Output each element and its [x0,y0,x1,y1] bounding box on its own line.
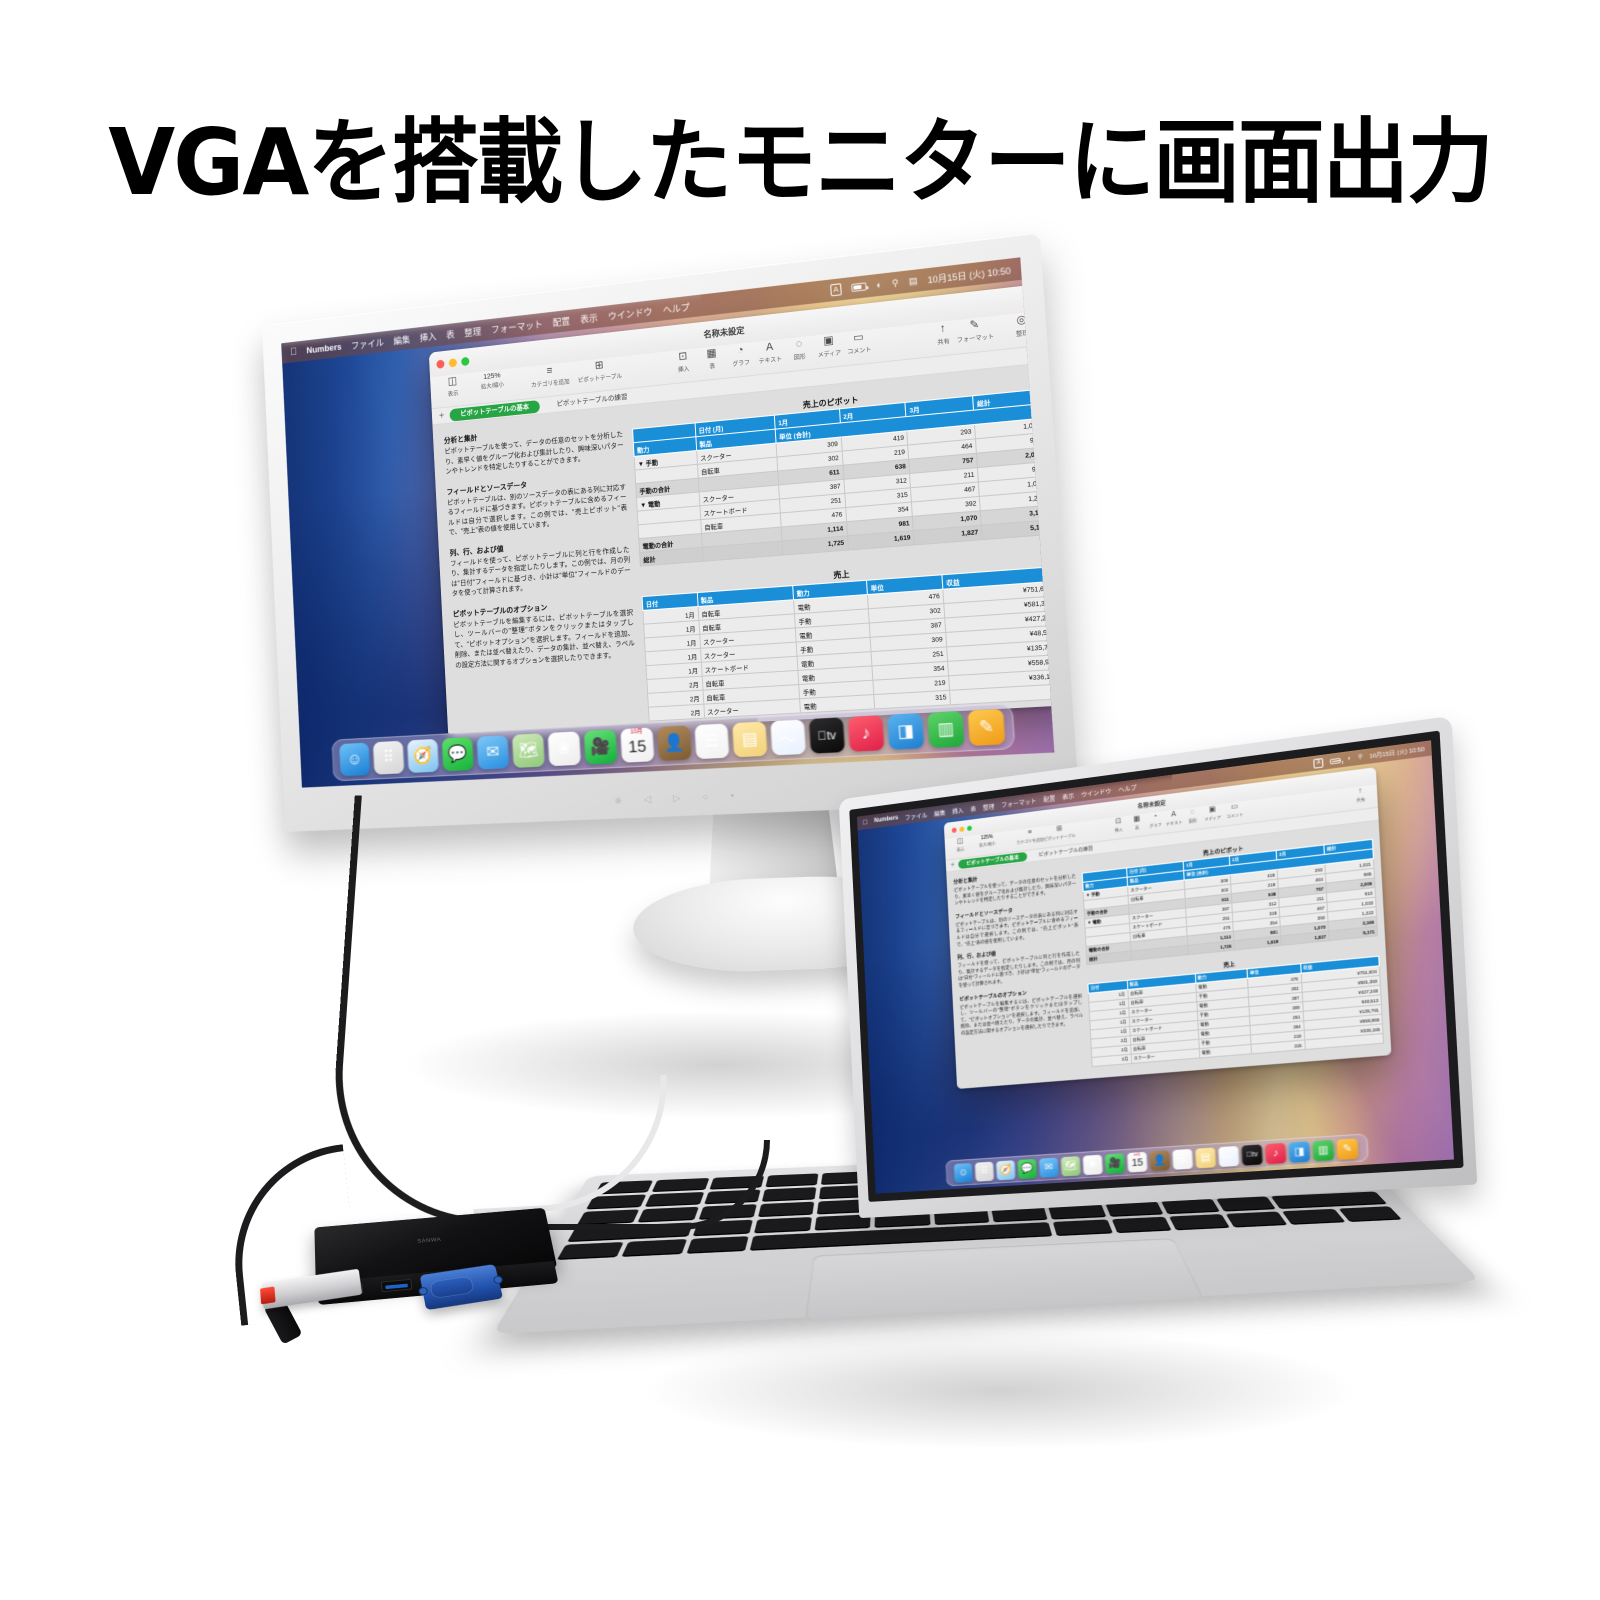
toolbar-media[interactable]: ▣ メディア [813,333,844,359]
laptop-share-icon: ↑ [1358,787,1362,796]
mail-icon[interactable]: ✉ [1039,1157,1059,1177]
menu-item-arrange[interactable]: 配置 [552,314,570,329]
toolbar-add-category[interactable]: ≡ カテゴリを追加 [532,363,567,389]
laptop-toolbar-zoom[interactable]: 125% 拡大/縮小 [977,833,997,848]
menu-item-insert[interactable]: 挿入 [419,329,436,344]
notes-icon[interactable]: ▤ [732,721,767,757]
shape-icon: ◌ [795,338,802,352]
toolbar-comment[interactable]: ▭ コメント [843,330,875,356]
share-icon: ↑ [939,322,946,336]
laptop-shadow [640,1330,1360,1450]
chart-icon: ◔ [737,344,744,358]
laptop-table-icon: ▦ [1133,815,1140,824]
music-icon[interactable]: ♪ [848,715,885,752]
safari-icon[interactable]: 🧭 [407,739,439,773]
keynote-icon[interactable]: ◨ [1289,1141,1311,1162]
laptop-chart-icon: ◔ [1153,813,1158,822]
traffic-lights[interactable] [436,356,469,368]
page-headline: VGAを搭載したモニターに画面出力 [48,88,1552,221]
laptop-menu-item-format[interactable]: フォーマット [1001,795,1037,809]
osd-menu-icon[interactable]: ○ [702,792,708,803]
laptop-toolbar-insert[interactable]: ⊡ 挿入 [1109,817,1128,835]
pivot-table-icon: ⊞ [595,359,604,372]
trackpad[interactable] [805,1238,1204,1320]
laptop-insert-icon: ⊡ [1115,818,1121,827]
laptop-screen:  Numbers ファイル 編集 挿入 表 整理 フォーマット 配置 表示 ウ… [849,731,1463,1202]
laptop-view-icon: ◫ [957,838,964,847]
osd-right-icon[interactable]: ▷ [673,793,681,804]
laptop-menu-item-table[interactable]: 表 [970,803,976,813]
external-monitor:  Numbers ファイル 編集 挿入 表 整理 フォーマット 配置 表示 ウ… [262,232,1079,832]
monitor-screen:  Numbers ファイル 編集 挿入 表 整理 フォーマット 配置 表示 ウ… [281,257,1054,787]
menu-item-window[interactable]: ウインドウ [608,304,653,323]
monitor-bezel:  Numbers ファイル 編集 挿入 表 整理 フォーマット 配置 表示 ウ… [262,232,1079,832]
laptop-toolbar-view[interactable]: ◫ 表示 [950,837,970,854]
minimize-icon[interactable] [449,358,457,367]
laptop-menu-item-insert[interactable]: 挿入 [952,805,964,815]
menubar-datetime[interactable]: 10月15日 (火) 10:50 [927,263,1011,286]
appletv-icon[interactable]: tv [1241,1144,1262,1165]
laptop-zoom-icon[interactable] [967,825,972,831]
photos-icon[interactable]: ❀ [548,731,581,766]
laptop-macos-desktop:  Numbers ファイル 編集 挿入 表 整理 フォーマット 配置 表示 ウ… [857,740,1454,1193]
menu-item-format[interactable]: フォーマット [491,317,543,336]
photos-icon[interactable]: ❀ [1083,1154,1103,1175]
toolbar-text[interactable]: A テキスト [755,340,786,366]
menu-item-help[interactable]: ヘルプ [662,300,690,317]
control-center-icon[interactable]: ▤ [908,275,917,287]
menu-app-name[interactable]: Numbers [306,342,342,356]
sales-cell[interactable]: 2月 [1092,1054,1131,1066]
laptop-category-icon: ≡ [1028,829,1032,838]
toolbar-zoom[interactable]: 125% 拡大/縮小 [478,370,506,391]
notes-icon[interactable]: ▤ [1195,1147,1216,1168]
calendar-icon[interactable]: 10月15 [620,727,654,762]
laptop-toolbar-table[interactable]: ▦ 表 [1127,815,1146,833]
appletv-icon[interactable]: tv [809,717,845,753]
maps-icon[interactable]: 🗺 [1061,1156,1081,1177]
laptop-menu-item-window[interactable]: ウインドウ [1081,786,1112,799]
section-body-options: ピボットテーブルを編集するには、ピボットテーブルを選択し、ツールバーの"整理"ボ… [453,608,636,671]
mail-icon[interactable]: ✉ [477,735,510,770]
organize-icon: ◎ [1016,313,1027,327]
comment-icon: ▭ [853,331,864,345]
macos-desktop:  Numbers ファイル 編集 挿入 表 整理 フォーマット 配置 表示 ウ… [281,257,1054,787]
osd-power-icon[interactable]: ⎈ [614,796,622,807]
numbers-icon[interactable]: ▥ [927,711,964,748]
menu-item-organize[interactable]: 整理 [464,324,482,339]
toolbar-chart[interactable]: ◔ グラフ [726,343,756,369]
product-marketing-image: VGAを搭載したモニターに画面出力  Numbers ファイル 編集 挿入 [0,0,1600,1600]
zoom-icon[interactable] [461,356,469,365]
menu-item-table[interactable]: 表 [446,327,455,341]
menu-item-file[interactable]: ファイル [351,335,384,352]
toolbar-insert[interactable]: ⊡ 挿入 [668,349,698,375]
freeform-icon[interactable]: 〜 [1218,1145,1239,1166]
freeform-icon[interactable]: 〜 [770,719,806,755]
laptop-lid:  Numbers ファイル 編集 挿入 表 整理 フォーマット 配置 表示 ウ… [839,716,1478,1218]
laptop-toolbar-chart[interactable]: ◔ グラフ [1146,812,1165,830]
menu-item-edit[interactable]: 編集 [393,332,410,347]
laptop-pivot-icon: ⊞ [1056,825,1062,834]
laptop-menu-app-name[interactable]: Numbers [874,815,898,824]
laptop-menu-item-organize[interactable]: 整理 [983,801,995,812]
laptop-document-column: 分析と集計 ピボットテーブルを使って、データの任意のセットを分析したり、素早く値… [953,864,1086,1088]
facetime-icon[interactable]: 🎥 [584,729,618,764]
laptop-text-icon: A [1171,811,1176,820]
wifi-icon[interactable]: ◐ [876,280,882,291]
calendar-day-label: 15 [628,736,647,758]
laptop-toolbar-media[interactable]: ▣ メディア [1202,805,1224,823]
laptop-add-sheet-button[interactable]: + [951,862,955,869]
add-sheet-button[interactable]: + [439,410,445,421]
format-icon: ✎ [969,319,979,333]
safari-icon[interactable]: 🧭 [996,1160,1015,1180]
pages-icon[interactable]: ✎ [1336,1138,1358,1160]
contacts-icon[interactable]: 👤 [657,725,691,761]
input-source-icon[interactable]: A [830,283,842,296]
finder-icon[interactable]: ☺ [339,743,370,777]
numbers-icon[interactable]: ▥ [1312,1139,1334,1161]
laptop-wifi-icon[interactable]: ◐ [1348,755,1352,762]
contacts-icon[interactable]: 👤 [1150,1150,1171,1171]
launchpad-icon[interactable]: ⠿ [975,1161,994,1181]
monitor-osd-buttons[interactable]: ⎈ ◁ ▷ ○ • [614,791,734,807]
text-icon: A [766,341,774,355]
laptop-toolbar-pivot[interactable]: ⊞ ピボットテーブル [1043,823,1075,842]
laptop-comment-icon: ▭ [1231,803,1238,812]
laptop-toolbar-add-category[interactable]: ≡ カテゴリを追加 [1016,827,1044,846]
sheet-canvas[interactable]: 分析と集計 ピボットテーブルを使って、データの任意のセットを分析したり、素早く値… [432,363,1054,739]
osd-led: • [730,791,734,802]
keynote-icon[interactable]: ◨ [887,713,924,750]
laptop-toolbar-share[interactable]: ↑ 共有 [1350,786,1371,805]
laptop-close-icon[interactable] [952,827,957,833]
messages-icon[interactable]: 💬 [1017,1158,1037,1178]
laptop-battery-icon[interactable] [1330,757,1341,764]
laptop-menu-item-help[interactable]: ヘルプ [1118,782,1137,794]
toolbar-pivot-table[interactable]: ⊞ ピボットテーブル [579,358,619,384]
facetime-icon[interactable]: 🎥 [1105,1153,1125,1174]
pages-icon[interactable]: ✎ [968,709,1006,746]
music-icon[interactable]: ♪ [1265,1142,1286,1163]
toolbar-format[interactable]: ✎ フォーマット [958,317,993,344]
osd-left-icon[interactable]: ◁ [643,794,651,805]
laptop-menu-item-view[interactable]: 表示 [1062,790,1074,801]
laptop-shape-icon: ◌ [1190,808,1195,817]
insert-icon: ⊡ [678,350,688,364]
laptop-toolbar-comment[interactable]: ▭ コメント [1223,802,1247,821]
category-icon: ≡ [546,365,553,378]
tables-column: 売上のピボット 日付 (月) 1月 2月 3月 [631,376,1054,727]
laptop-search-icon[interactable]: ⚲ [1358,754,1363,761]
calendar-icon[interactable]: 10月15 [1127,1151,1147,1172]
laptop-menu-item-arrange[interactable]: 配置 [1043,793,1055,804]
messages-icon[interactable]: 💬 [442,737,474,771]
toolbar-shape[interactable]: ◌ 図形 [784,337,815,363]
laptop-input-source-icon[interactable]: A [1313,757,1324,768]
laptop-menu-item-file[interactable]: ファイル [905,810,928,822]
laptop-numbers-window[interactable]: 名称未設定 ◫ 表示 125% 拡大/縮小 [944,767,1392,1089]
laptop-menu-item-edit[interactable]: 編集 [934,807,946,817]
calendar-day-label: 15 [1131,1157,1143,1170]
menu-item-view[interactable]: 表示 [580,310,598,325]
document-text-column: 分析と集計 ピボットテーブルを使って、データの任意のセットを分析したり、素早く値… [444,418,640,738]
macbook-laptop:  Numbers ファイル 編集 挿入 表 整理 フォーマット 配置 表示 ウ… [839,716,1478,1218]
close-icon[interactable] [436,359,444,368]
apple-menu-icon[interactable]:  [290,347,297,358]
laptop-apple-menu-icon[interactable]:  [863,819,868,826]
media-icon: ▣ [823,334,834,348]
reminders-icon[interactable]: ☰ [1172,1148,1193,1169]
battery-icon[interactable] [851,282,867,292]
sales-cell[interactable]: 2月 [648,704,704,721]
toolbar-view[interactable]: ◫ 表示 [439,374,467,399]
finder-icon[interactable]: ☺ [954,1162,973,1182]
toolbar-share[interactable]: ↑ 共有 [927,321,959,348]
launchpad-icon[interactable]: ⠿ [373,741,404,775]
laptop-media-icon: ▣ [1209,806,1216,815]
toolbar-table[interactable]: ▦ 表 [697,346,727,372]
view-icon: ◫ [448,375,458,388]
maps-icon[interactable]: 🗺 [512,733,545,768]
laptop-toolbar-text[interactable]: A テキスト [1164,810,1183,828]
laptop-minimize-icon[interactable] [959,826,964,832]
numbers-window[interactable]: 名称未設定 ◫ 表示 125% 拡大/縮小 [429,283,1055,738]
reminders-icon[interactable]: ☰ [694,723,729,759]
table-icon: ▦ [706,347,717,361]
search-icon[interactable]: ⚲ [892,277,899,289]
laptop-toolbar-shape[interactable]: ◌ 図形 [1183,807,1203,825]
toolbar-organize[interactable]: ◎ 整理 [1005,312,1038,339]
laptop-tables-column: 売上のピボット 日付 (月) 1月 2月 [1081,829,1385,1078]
